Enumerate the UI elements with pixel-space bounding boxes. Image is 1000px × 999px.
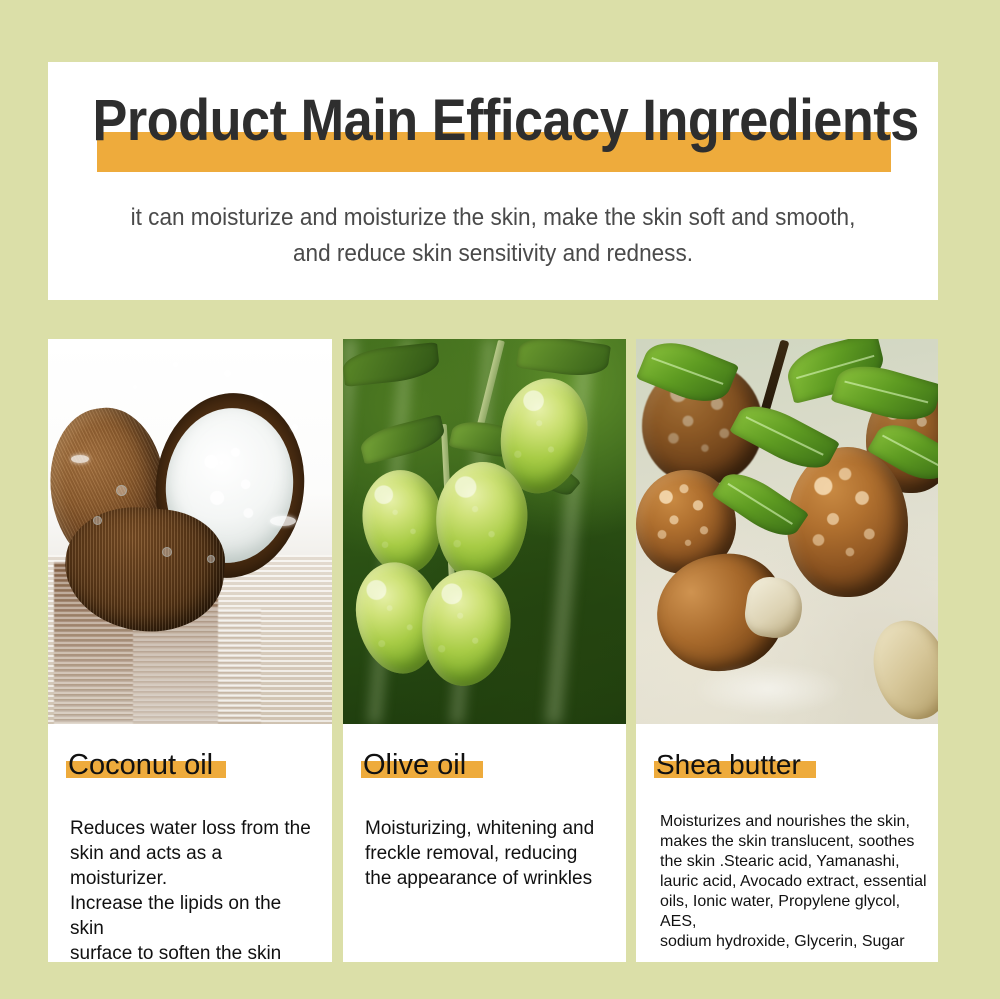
splash-droplet: [292, 424, 298, 430]
water-splash: [270, 516, 296, 526]
shea-nut-photo: [636, 339, 938, 724]
title-block: Product Main Efficacy Ingredients: [48, 78, 938, 186]
card-title: Coconut oil: [68, 750, 213, 780]
shea-kernel: [742, 574, 806, 641]
card-description: Moisturizing, whitening and freckle remo…: [365, 816, 615, 891]
card-title-block: Shea butter: [636, 724, 938, 786]
ingredient-card-list: Coconut oil Reduces water loss from the …: [48, 339, 938, 962]
shea-nut: [787, 447, 908, 597]
water-splash: [71, 455, 89, 463]
page-subtitle: it can moisturize and moisturize the ski…: [117, 200, 869, 272]
card-title-block: Coconut oil: [48, 724, 332, 786]
ingredient-card-coconut-oil: Coconut oil Reduces water loss from the …: [48, 339, 332, 962]
splash-droplet: [133, 385, 137, 389]
card-title: Shea butter: [656, 750, 801, 780]
ingredient-card-shea-butter: Shea butter Moisturizes and nourishes th…: [636, 339, 938, 962]
shea-kernel-slice: [865, 614, 938, 724]
olive-photo: [343, 339, 626, 724]
water-droplet: [162, 547, 172, 557]
splash-droplet: [224, 370, 231, 377]
card-description: Moisturizes and nourishes the skin, make…: [660, 812, 932, 952]
surface-gloss: [690, 662, 847, 716]
page-title: Product Main Efficacy Ingredients: [93, 78, 894, 164]
water-droplet: [207, 555, 215, 563]
ingredient-card-olive-oil: Olive oil Moisturizing, whitening and fr…: [343, 339, 626, 962]
card-description: Reduces water loss from the skin and act…: [70, 816, 320, 962]
splash-droplet: [173, 362, 178, 367]
card-title-block: Olive oil: [343, 724, 626, 786]
splash-droplet: [258, 393, 263, 398]
header-panel: Product Main Efficacy Ingredients it can…: [48, 62, 938, 300]
coconut-photo: [48, 339, 332, 724]
card-title: Olive oil: [363, 750, 466, 780]
